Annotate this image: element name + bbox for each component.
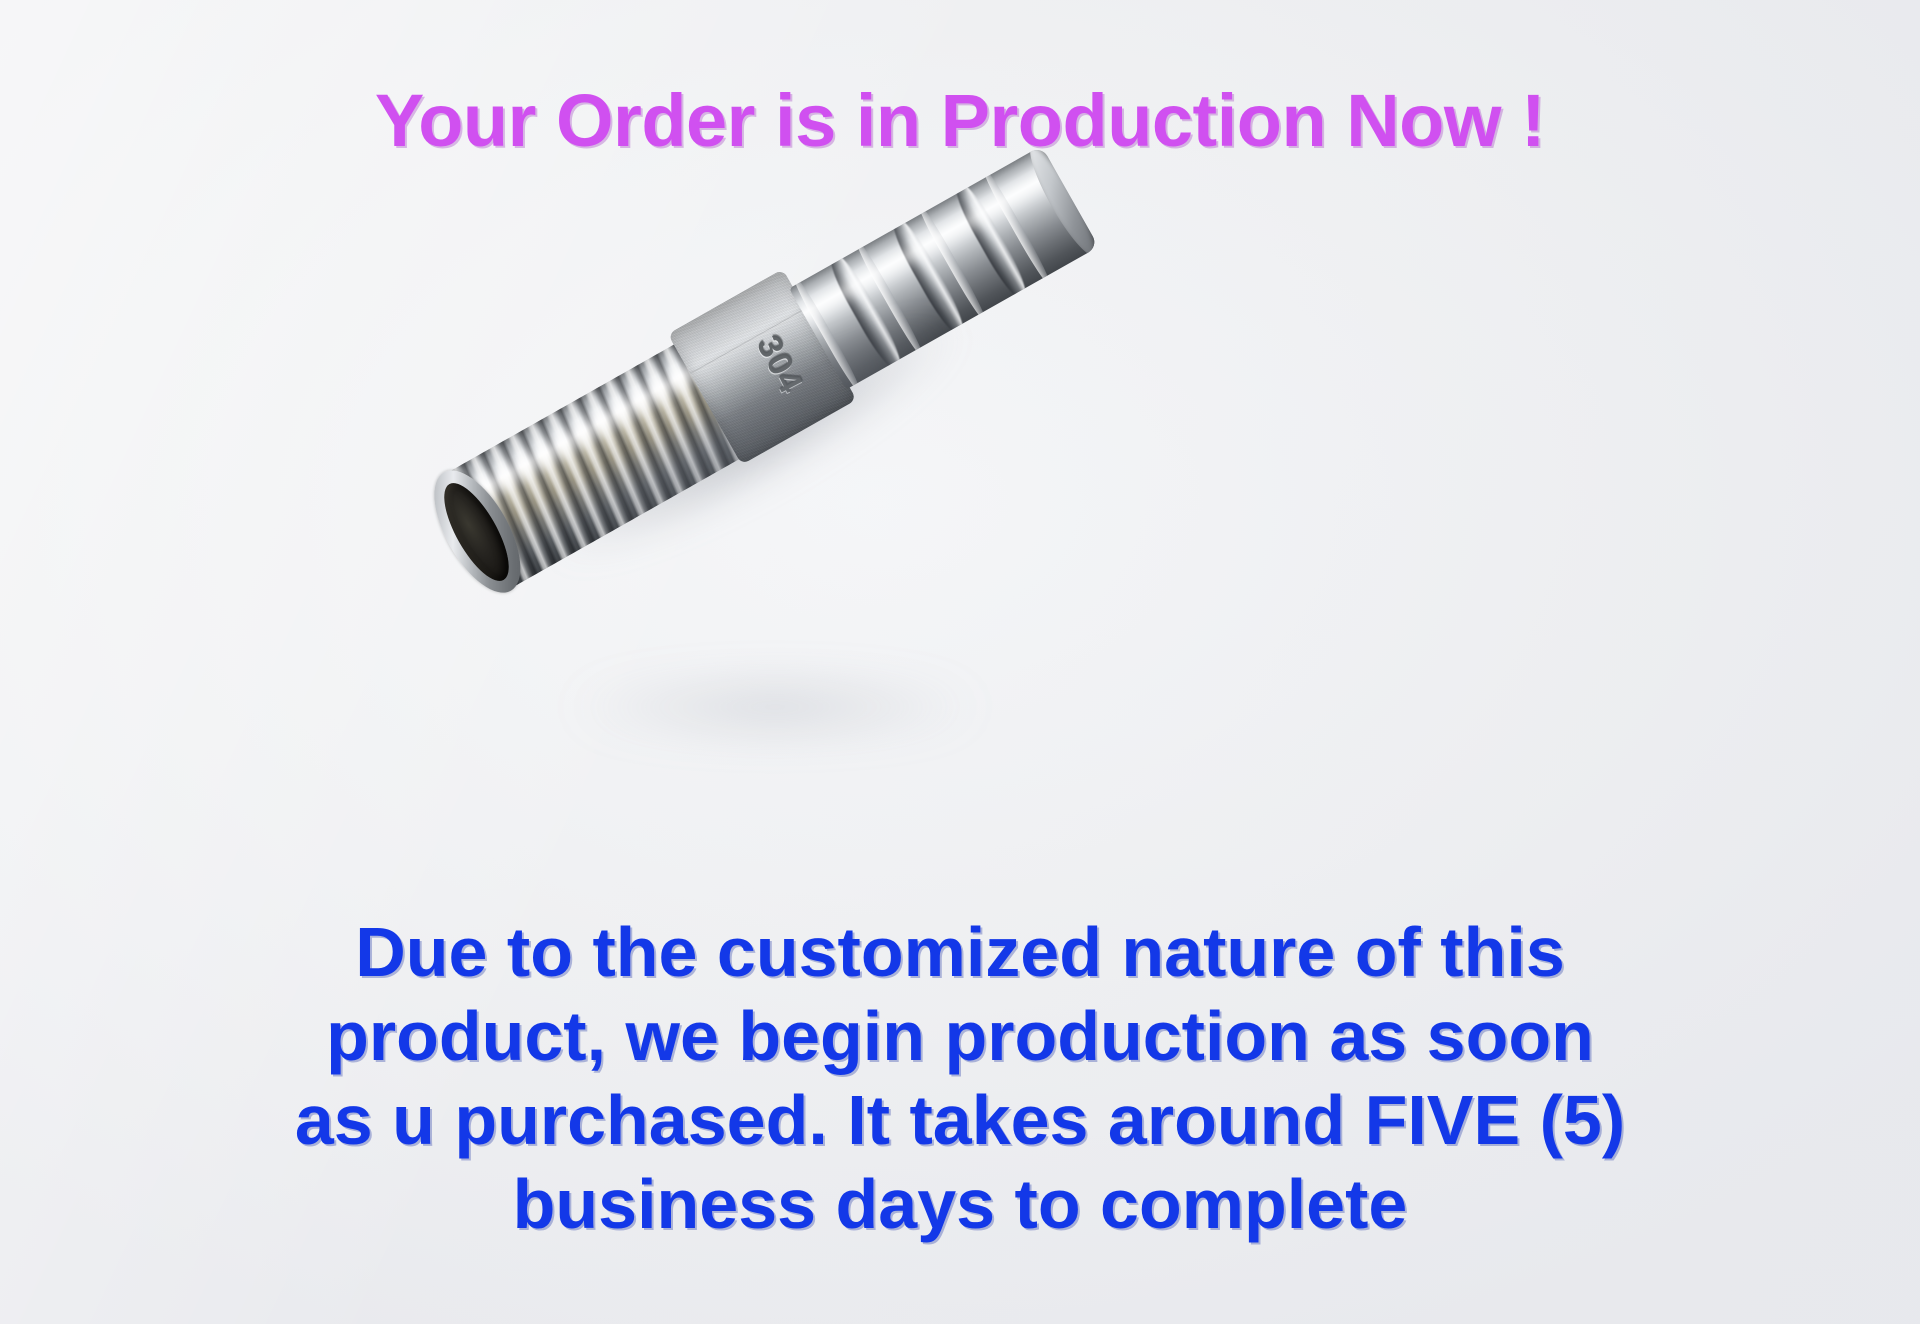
- product-contact-shadow: [515, 672, 1035, 742]
- message-line: as u purchased. It takes around FIVE (5): [0, 1078, 1920, 1162]
- message-line: Due to the customized nature of this: [0, 910, 1920, 994]
- headline-text: Your Order is in Production Now !: [0, 78, 1920, 163]
- message-line: product, we begin production as soon: [0, 994, 1920, 1078]
- message-block: Due to the customized nature of this pro…: [0, 910, 1920, 1246]
- promo-banner: Your Order is in Production Now ! 304: [0, 0, 1920, 1324]
- message-line: business days to complete: [0, 1162, 1920, 1246]
- product-photo: 304: [455, 300, 1175, 750]
